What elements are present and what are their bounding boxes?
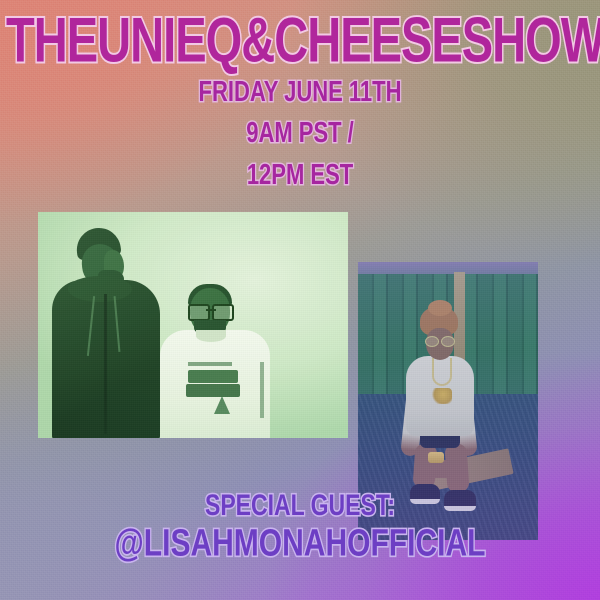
special-guest-handle: @LISAHMONAHOFFICIAL	[0, 522, 600, 566]
event-flyer: THEUNIEQ&CHEESESHOW FRIDAY JUNE 11TH 9AM…	[0, 0, 600, 600]
photo-grain-overlay	[38, 212, 348, 438]
event-date: FRIDAY JUNE 11TH	[0, 75, 600, 109]
event-time-pst: 9AM PST /	[0, 116, 600, 150]
event-time-est: 12PM EST	[0, 158, 600, 192]
two-hosts-photo	[38, 212, 348, 438]
show-title: THEUNIEQ&CHEESESHOW	[6, 10, 594, 73]
special-guest-label: SPECIAL GUEST:	[0, 488, 600, 523]
